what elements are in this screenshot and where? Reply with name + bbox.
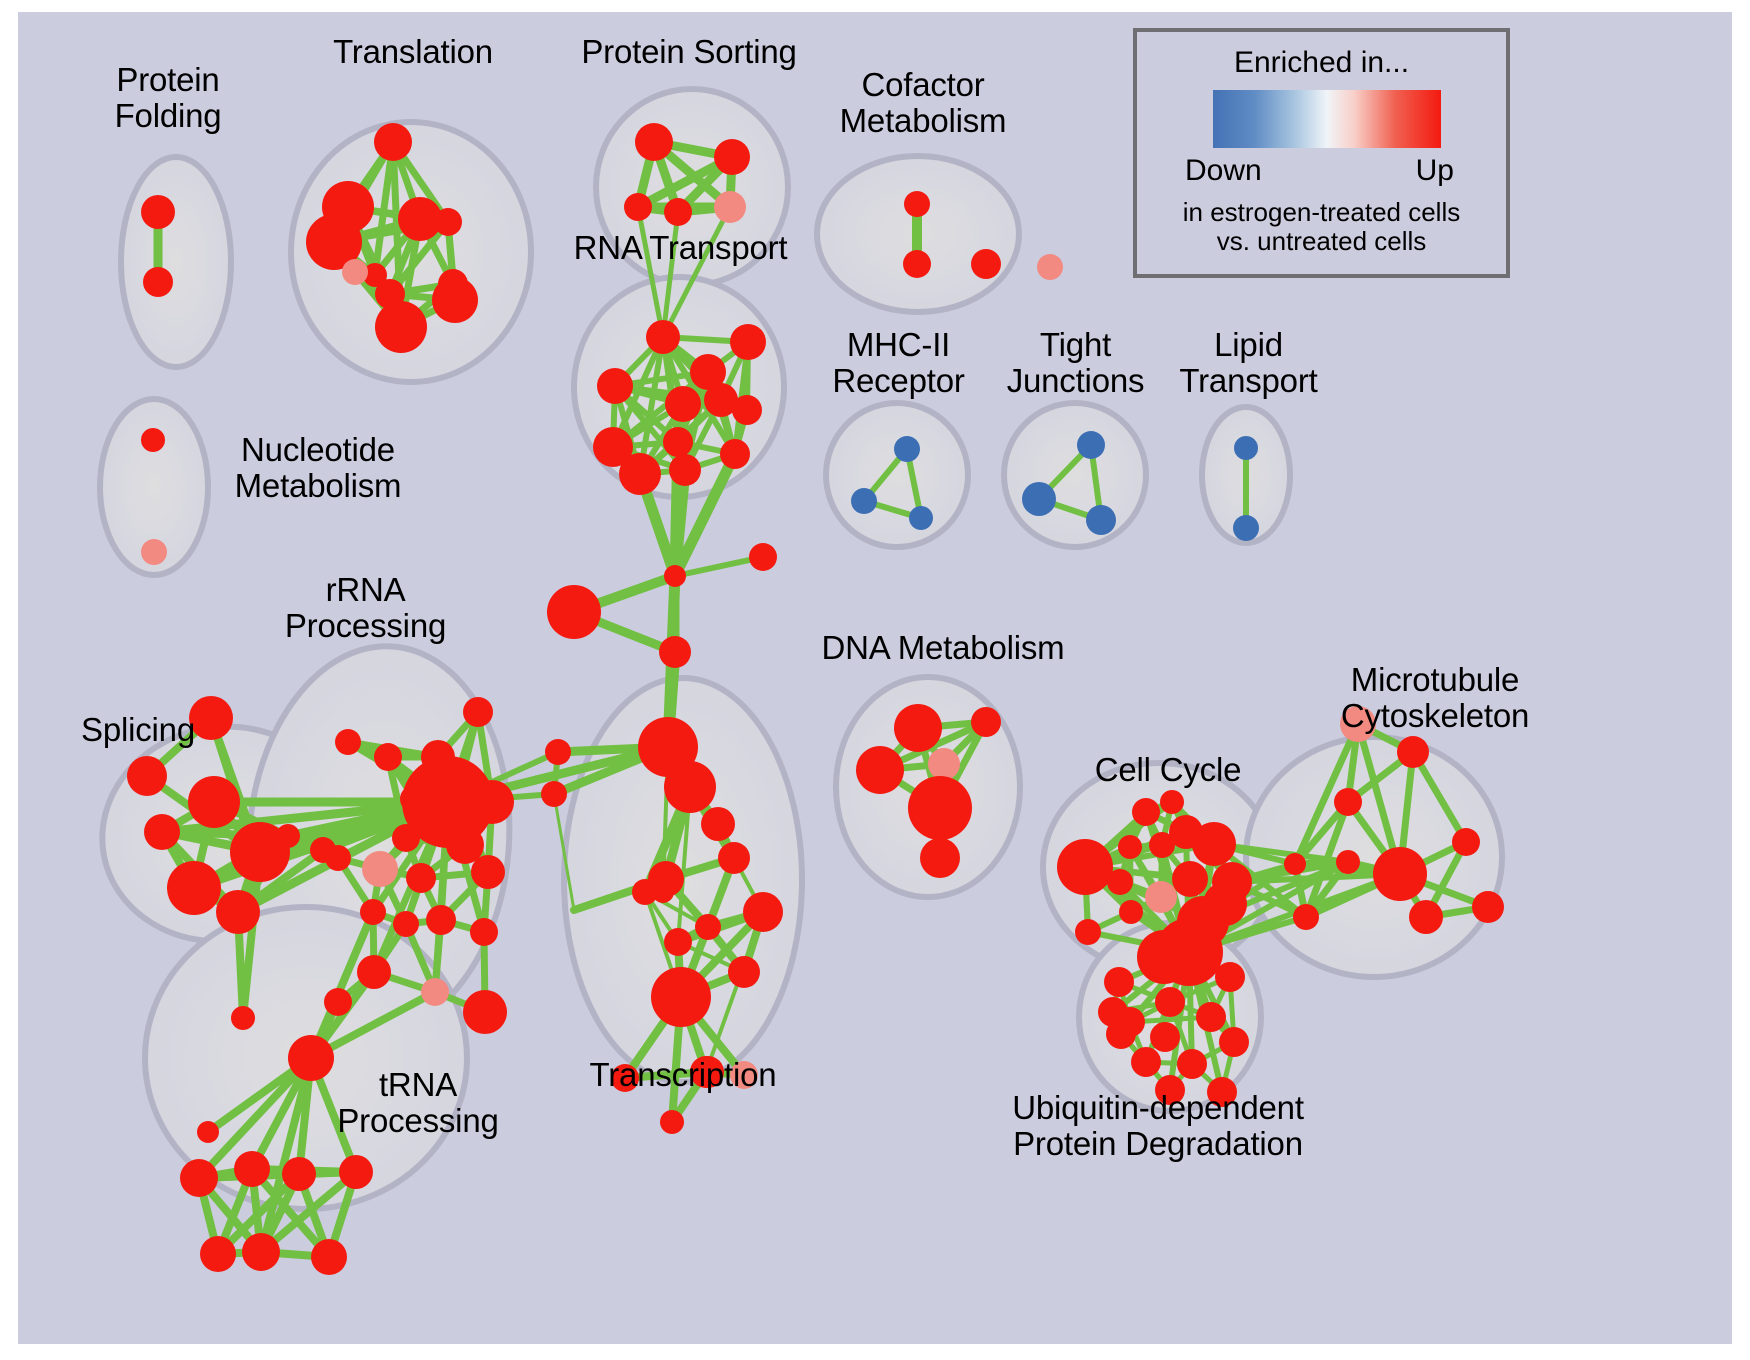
cluster-label-microtubule: Microtubule Cytoskeleton: [1290, 662, 1580, 733]
cluster-label-rrna: rRNA Processing: [258, 572, 473, 643]
cluster-label-lipid-transport: Lipid Transport: [1146, 327, 1351, 398]
halo-mhc: [826, 403, 968, 547]
legend-gradient-bar: [1213, 90, 1441, 148]
cluster-label-dna-metabolism: DNA Metabolism: [808, 630, 1078, 666]
legend-subtitle-line2: vs. untreated cells: [1217, 226, 1427, 256]
color-legend: Enriched in... Down Up in estrogen-treat…: [1133, 28, 1510, 278]
cluster-label-protein-folding: Protein Folding: [78, 62, 258, 133]
legend-subtitle: in estrogen-treated cellsvs. untreated c…: [1137, 198, 1506, 256]
cluster-label-mhc-ii: MHC-II Receptor: [796, 327, 1001, 398]
legend-subtitle-line1: in estrogen-treated cells: [1183, 197, 1460, 227]
legend-up-label: Up: [1416, 154, 1454, 188]
cluster-label-nucleotide: Nucleotide Metabolism: [203, 432, 433, 503]
cluster-label-translation: Translation: [288, 34, 538, 70]
cluster-label-trna: tRNA Processing: [308, 1067, 528, 1138]
cluster-label-rna-transport: RNA Transport: [508, 230, 853, 266]
cluster-label-ubiquitin: Ubiquitin-dependent Protein Degradation: [973, 1090, 1343, 1161]
network-plot-area: Protein Folding Translation Protein Sort…: [18, 12, 1732, 1344]
figure-canvas: Protein Folding Translation Protein Sort…: [0, 0, 1750, 1360]
cluster-label-cofactor: Cofactor Metabolism: [808, 67, 1038, 138]
cluster-label-transcription: Transcription: [558, 1057, 808, 1093]
legend-down-label: Down: [1185, 154, 1262, 188]
cluster-label-protein-sorting: Protein Sorting: [514, 34, 864, 70]
halo-tight-junctions: [1004, 403, 1146, 547]
legend-title: Enriched in...: [1137, 46, 1506, 80]
cluster-label-cell-cycle: Cell Cycle: [1078, 752, 1258, 788]
cluster-label-splicing: Splicing: [48, 712, 228, 748]
halo-protein-folding: [121, 157, 231, 367]
